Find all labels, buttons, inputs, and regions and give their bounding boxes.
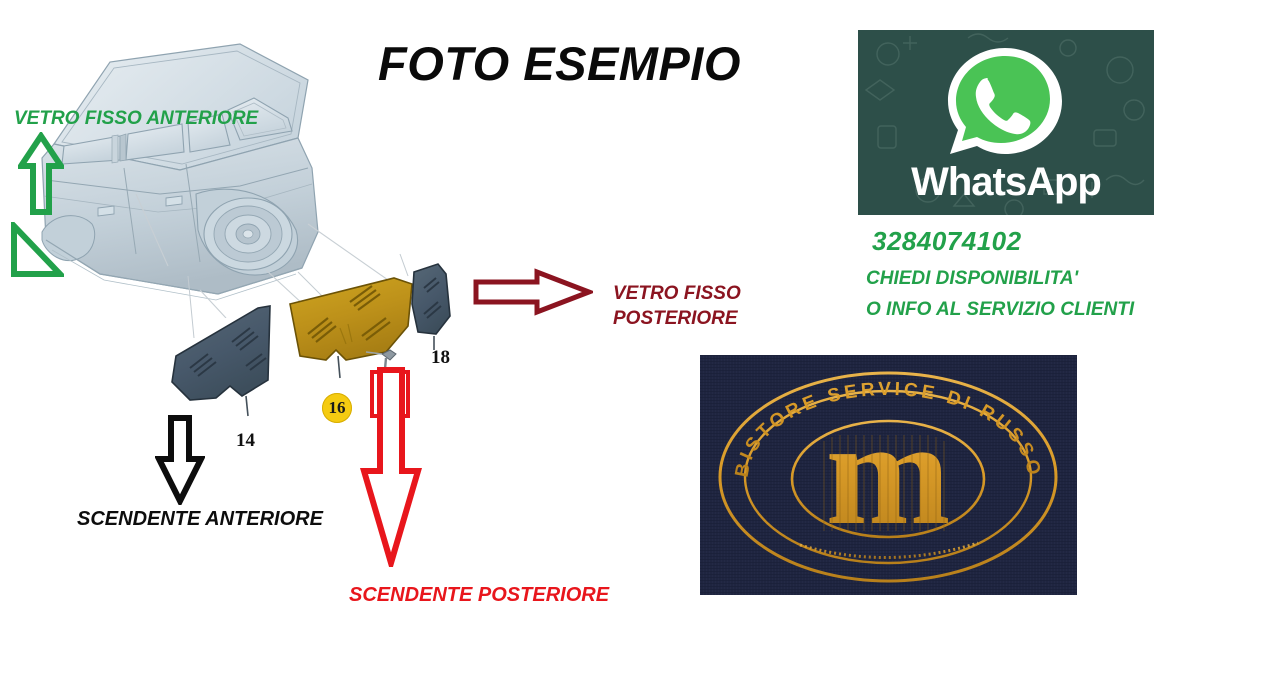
whatsapp-banner: WhatsApp [858, 30, 1154, 215]
callout-label-vetro-fisso-anteriore: VETRO FISSO ANTERIORE [14, 108, 258, 130]
poster-canvas: FOTO ESEMPIO [0, 0, 1264, 678]
part-16-shape [290, 278, 412, 360]
part-14-shape [172, 306, 270, 400]
shop-logo-banner: MRICAMBISTORE SERVICE DI RUSSO MARCO m [700, 355, 1077, 595]
callout-label-scendente-posteriore: SCENDENTE POSTERIORE [349, 584, 609, 607]
contact-service-line: O INFO AL SERVIZIO CLIENTI [866, 299, 1134, 321]
down-arrow-red-icon [360, 367, 422, 572]
page-title: FOTO ESEMPIO [378, 36, 741, 91]
right-arrow-maroon-icon [473, 268, 593, 321]
whatsapp-phone-bubble-icon [940, 42, 1070, 160]
down-arrow-black-icon [155, 415, 205, 510]
part-number-14: 14 [236, 430, 255, 452]
part-18-shape [412, 264, 450, 334]
up-arrow-green-icon [18, 132, 64, 221]
contact-phone-number[interactable]: 3284074102 [872, 226, 1022, 257]
callout-label-vetro-fisso-posteriore: VETRO FISSO POSTERIORE [613, 281, 741, 331]
callout-label-scendente-anteriore: SCENDENTE ANTERIORE [77, 508, 323, 531]
exploded-glass-parts [150, 250, 480, 440]
triangle-green-icon [8, 222, 64, 285]
part-number-18: 18 [431, 347, 450, 369]
contact-availability-line: CHIEDI DISPONIBILITA' [866, 268, 1078, 290]
whatsapp-wordmark: WhatsApp [858, 160, 1154, 205]
part-number-16-badge: 16 [322, 393, 352, 423]
